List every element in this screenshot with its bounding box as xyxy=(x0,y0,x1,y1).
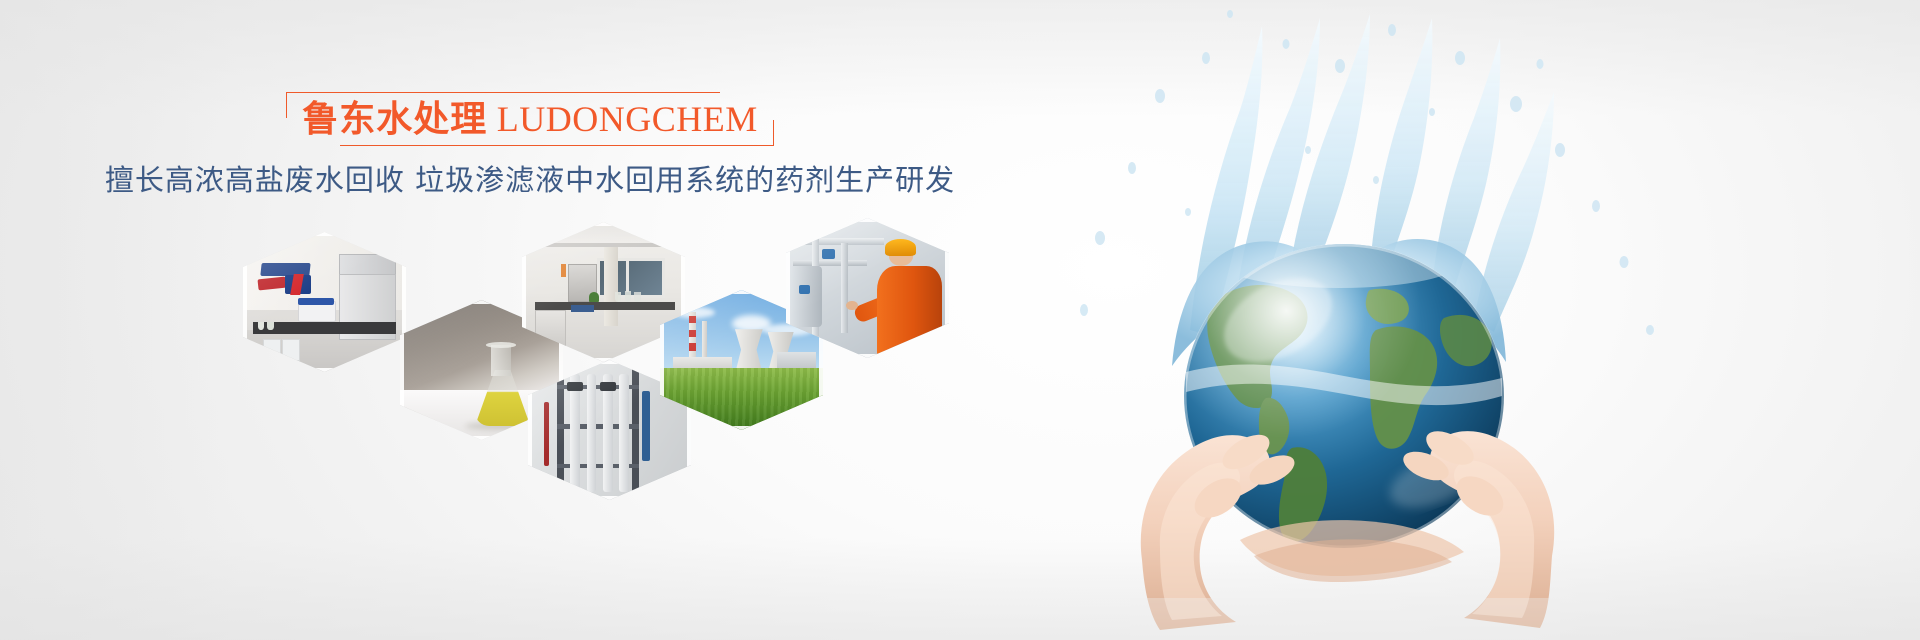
title-rule-left xyxy=(286,92,287,118)
title-rule-right xyxy=(773,120,774,146)
hex-tile-laboratory-interior[interactable] xyxy=(243,232,406,372)
banner-subtitle: 擅长高浓高盐废水回收 垃圾渗滤液中水回用系统的药剂生产研发 xyxy=(0,162,1060,200)
photo-laboratory-interior xyxy=(243,232,406,372)
banner-text-block: 鲁东水处理 LUDONGCHEM 擅长高浓高盐废水回收 垃圾渗滤液中水回用系统的… xyxy=(0,92,1060,200)
title-rule-bottom xyxy=(340,145,774,146)
title-english: LUDONGCHEM xyxy=(487,99,758,139)
banner-title: 鲁东水处理 LUDONGCHEM xyxy=(276,92,784,146)
water-splash-globe-in-hands xyxy=(1040,0,1920,640)
title-line: 鲁东水处理 LUDONGCHEM xyxy=(302,98,758,142)
title-rule-top xyxy=(286,92,720,93)
hero-banner: 鲁东水处理 LUDONGCHEM 擅长高浓高盐废水回收 垃圾渗滤液中水回用系统的… xyxy=(0,0,1920,640)
title-chinese: 鲁东水处理 xyxy=(302,99,487,140)
